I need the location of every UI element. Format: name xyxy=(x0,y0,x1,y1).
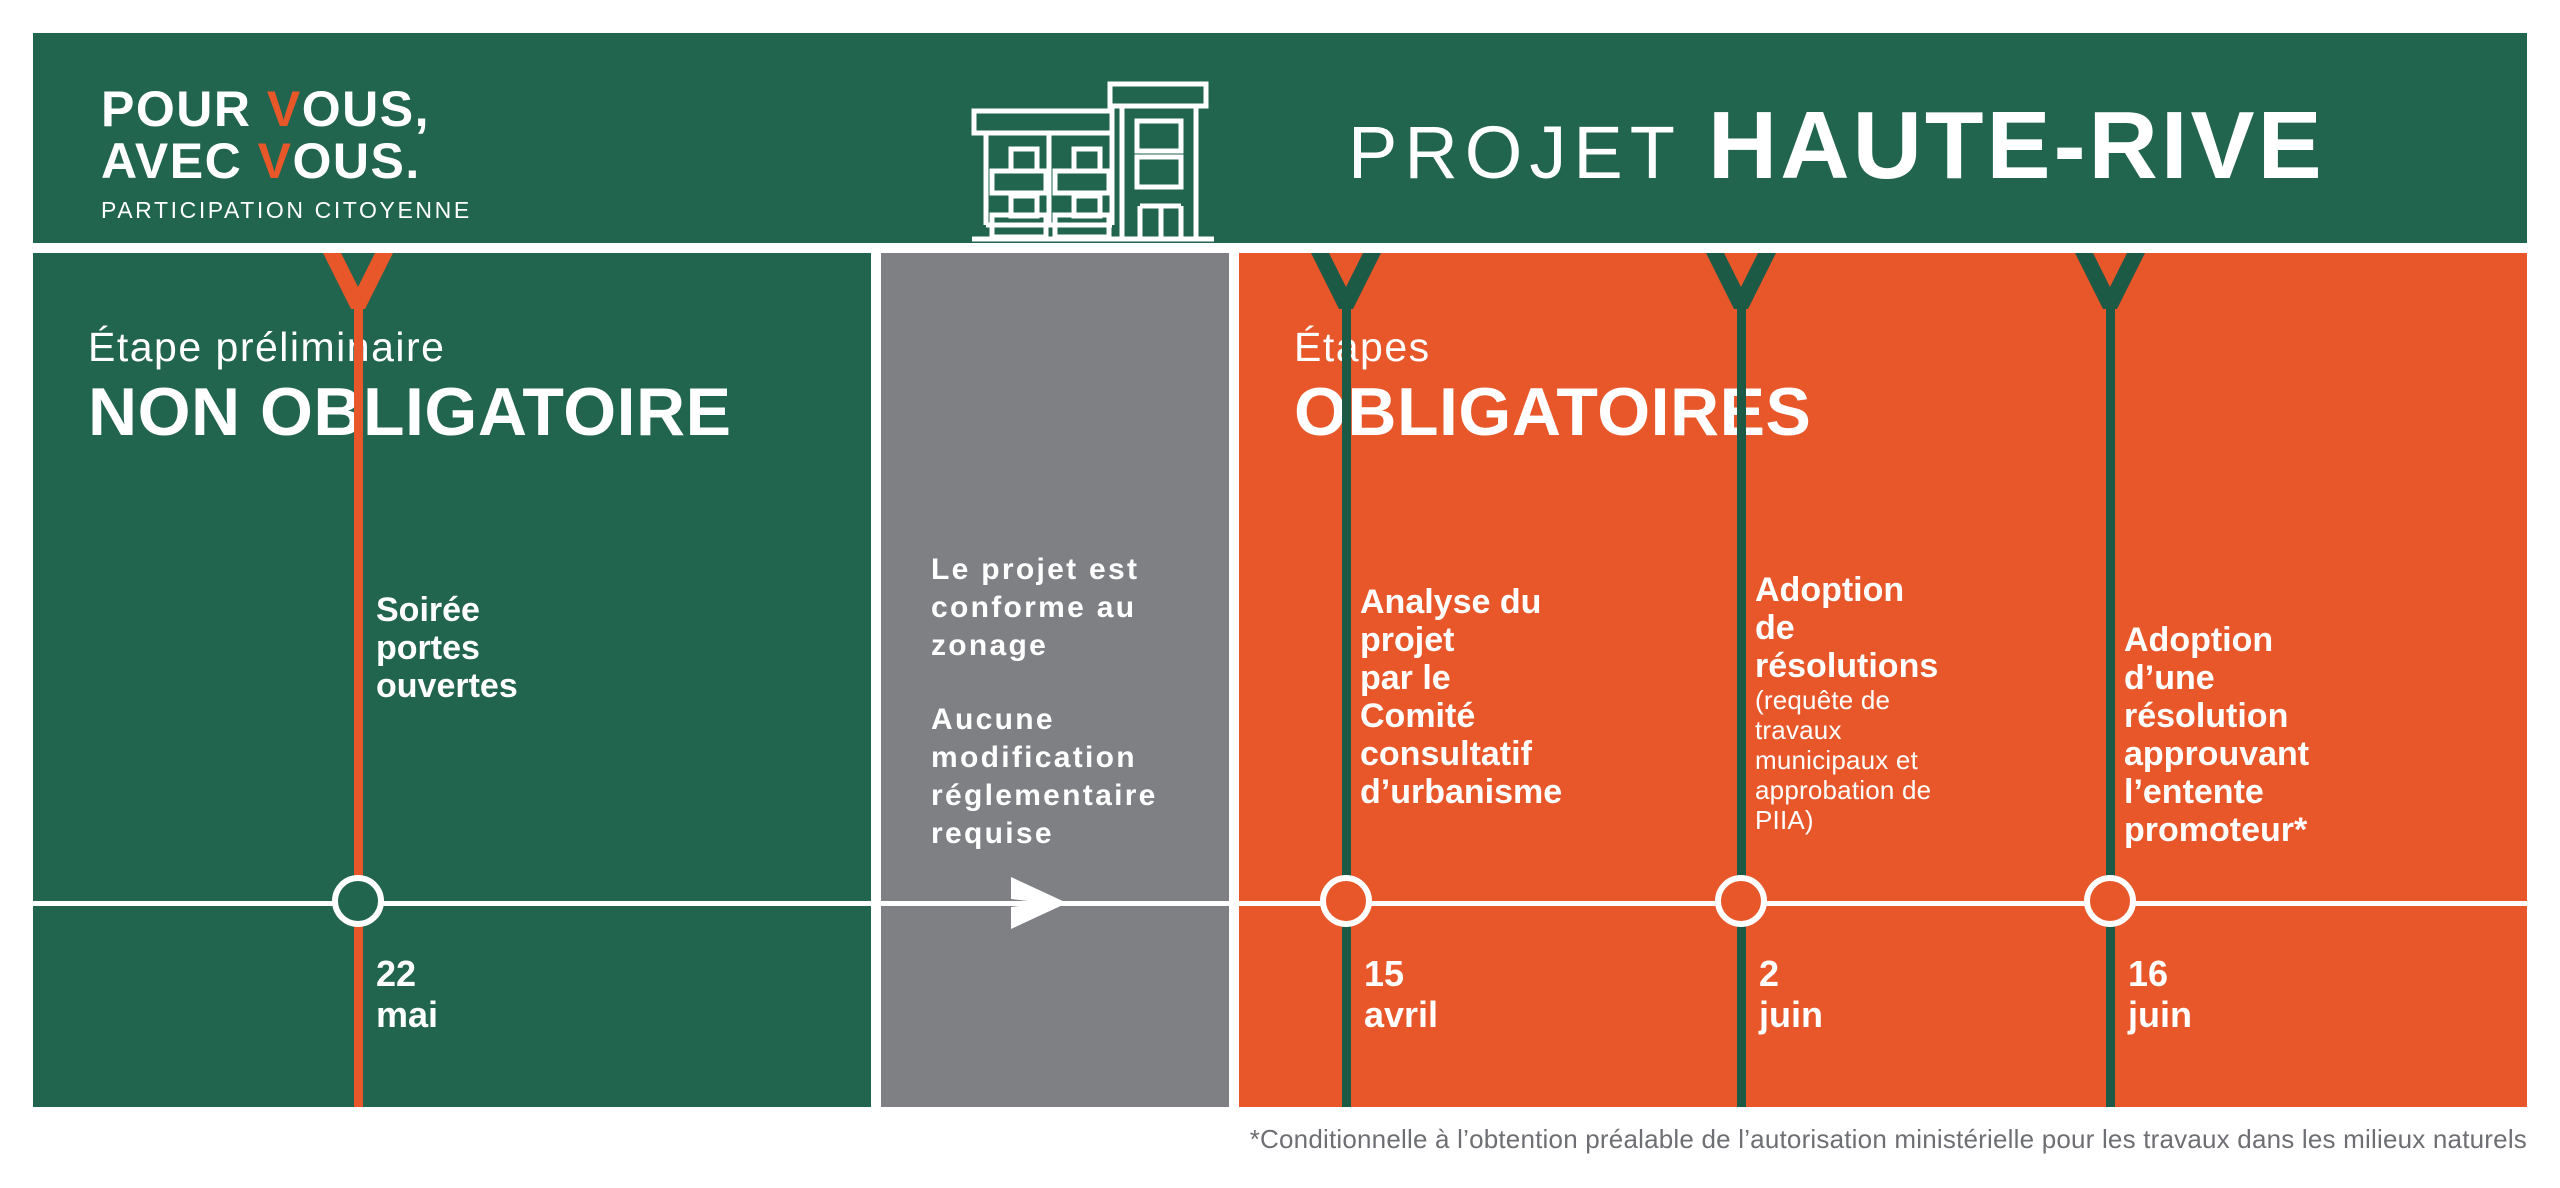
panel-orange-heading: Étapes OBLIGATOIRES xyxy=(1294,323,1811,450)
timeline-axis-orange xyxy=(1239,901,2527,906)
milestone-date-day: 15 xyxy=(1364,953,1438,994)
page-title: PROJET HAUTE-RIVE xyxy=(1348,91,2325,201)
milestone-adoption-entente-promoteur: Adoption d’une résolution approuvant l’e… xyxy=(2110,253,2112,1107)
milestone-dot xyxy=(1715,875,1767,927)
milestone-date-day: 16 xyxy=(2128,953,2192,994)
brand-tagline: PARTICIPATION CITOYENNE xyxy=(101,197,521,224)
milestone-stem xyxy=(1737,297,1746,1107)
milestone-date-day: 22 xyxy=(376,953,438,994)
milestone-date: 2 juin xyxy=(1759,953,1823,1035)
brand-line-1-pre: POUR xyxy=(101,81,267,137)
milestone-dot xyxy=(2084,875,2136,927)
milestone-stem xyxy=(2106,297,2115,1107)
milestone-stem xyxy=(1342,297,1351,1107)
brand-line-1-v: V xyxy=(267,81,302,137)
brand-line-2-v: V xyxy=(258,133,293,189)
milestone-date-month: juin xyxy=(2128,994,2192,1035)
brand-line-2-pre: AVEC xyxy=(101,133,258,189)
milestone-stem xyxy=(354,297,363,1107)
project-title-bold: HAUTE-RIVE xyxy=(1708,91,2325,201)
milestone-date: 22 mai xyxy=(376,953,438,1035)
brand-line-2: AVEC VOUS. xyxy=(101,135,521,187)
panel-green-heading: Étape préliminaire NON OBLIGATOIRE xyxy=(88,323,731,450)
panel-orange-strong: OBLIGATOIRES xyxy=(1294,374,1811,450)
building-icon xyxy=(968,75,1240,265)
gray-block-2: Aucune modification réglementaire requis… xyxy=(931,701,1231,853)
brand-line-2-post: OUS. xyxy=(292,133,420,189)
milestone-label-note: (requête de travaux municipaux et approb… xyxy=(1755,685,1938,835)
panel-conformite: Le projet est conforme au zonage Aucune … xyxy=(881,253,1229,1107)
arrow-right-icon xyxy=(1005,869,1073,937)
milestone-label: Analyse du projet par le Comité consulta… xyxy=(1360,583,1562,811)
infographic-root: POUR VOUS, AVEC VOUS. PARTICIPATION CITO… xyxy=(0,0,2560,1188)
milestone-date-day: 2 xyxy=(1759,953,1823,994)
milestone-date: 15 avril xyxy=(1364,953,1438,1035)
milestone-adoption-resolutions: Adoption de résolutions (requête de trav… xyxy=(1741,253,1743,1107)
brand-line-1: POUR VOUS, xyxy=(101,83,521,135)
project-title-light: PROJET xyxy=(1348,110,1682,195)
milestone-dot xyxy=(1320,875,1372,927)
milestone-date-month: mai xyxy=(376,994,438,1035)
milestone-label: Adoption d’une résolution approuvant l’e… xyxy=(2124,621,2309,849)
panel-green-strong: NON OBLIGATOIRE xyxy=(88,374,731,450)
milestone-date-month: juin xyxy=(1759,994,1823,1035)
milestone-analyse-ccu: Analyse du projet par le Comité consulta… xyxy=(1346,253,1348,1107)
milestone-date: 16 juin xyxy=(2128,953,2192,1035)
panel-orange-kicker: Étapes xyxy=(1294,323,1811,371)
timeline-axis-green xyxy=(33,901,871,906)
milestone-label-main: Adoption de résolutions xyxy=(1755,571,1938,685)
panel-green-kicker: Étape préliminaire xyxy=(88,323,731,371)
milestone-dot xyxy=(332,875,384,927)
brand-line-1-post: OUS, xyxy=(302,81,430,137)
gray-block-1: Le projet est conforme au zonage xyxy=(931,551,1231,665)
brand-logo: POUR VOUS, AVEC VOUS. PARTICIPATION CITO… xyxy=(101,83,521,224)
header-bar: POUR VOUS, AVEC VOUS. PARTICIPATION CITO… xyxy=(33,33,2527,243)
footnote: *Conditionnelle à l’obtention préalable … xyxy=(1250,1124,2527,1155)
milestone-label: Adoption de résolutions (requête de trav… xyxy=(1755,571,1938,835)
panel-gray-copy: Le projet est conforme au zonage Aucune … xyxy=(931,551,1231,853)
milestone-date-month: avril xyxy=(1364,994,1438,1035)
milestone-label: Soirée portes ouvertes xyxy=(376,591,518,705)
milestone-soiree-portes-ouvertes: Soirée portes ouvertes 22 mai xyxy=(358,253,360,1107)
